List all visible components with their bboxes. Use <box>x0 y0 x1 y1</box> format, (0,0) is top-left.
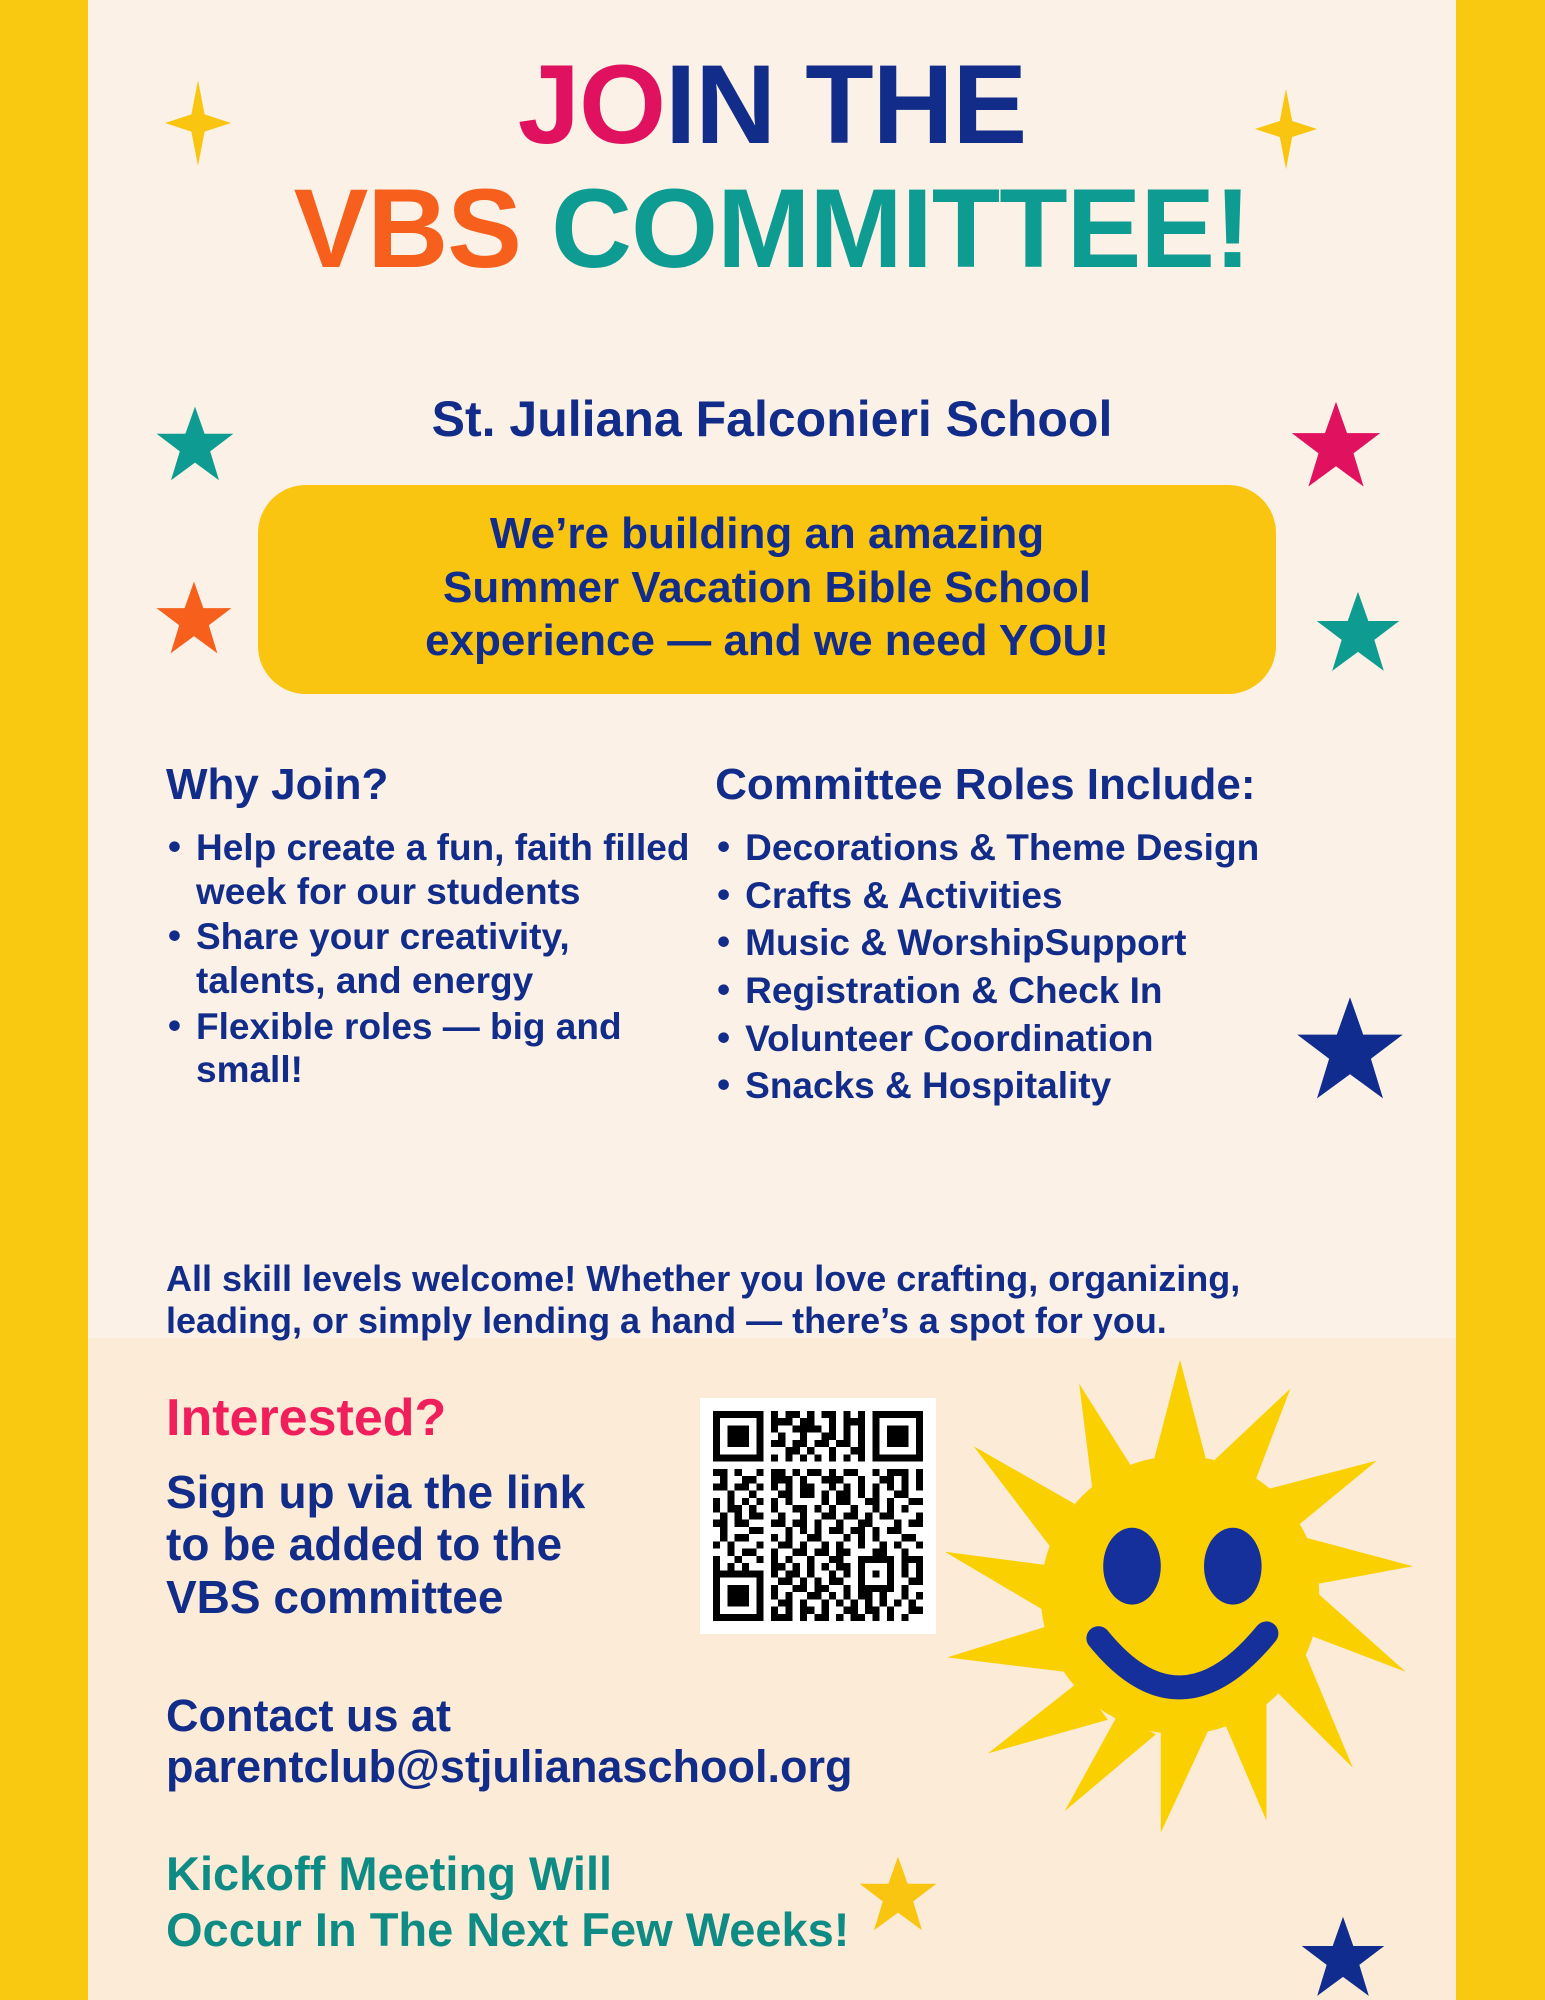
contact-block: Contact us at parentclub@stjulianaschool… <box>166 1690 966 1793</box>
title-line-1: JOIN THE <box>88 46 1456 164</box>
page-title: JOIN THE VBS COMMITTEE! <box>88 46 1456 287</box>
qr-code[interactable] <box>700 1398 936 1634</box>
info-columns: Why Join? Help create a fun, faith fille… <box>88 760 1456 1112</box>
kickoff-line-2: Occur In The Next Few Weeks! <box>166 1902 1066 1958</box>
title-in-the: IN THE <box>665 42 1026 167</box>
star-icon-teal-right <box>1315 590 1401 676</box>
committee-roles-list: Decorations & Theme Design Crafts & Acti… <box>715 826 1386 1108</box>
school-name: St. Juliana Falconieri School <box>88 390 1456 448</box>
title-line-2: VBS COMMITTEE! <box>88 170 1456 288</box>
list-item: Snacks & Hospitality <box>715 1064 1386 1108</box>
star-icon-navy-bottom <box>1300 1915 1386 2000</box>
callout-line-3: experience — and we need YOU! <box>288 614 1246 668</box>
list-item: Help create a fun, faith filled week for… <box>166 826 697 913</box>
signup-instructions: Sign up via the link to be added to the … <box>166 1466 586 1623</box>
sun-left-eye <box>1103 1528 1161 1605</box>
kickoff-notice: Kickoff Meeting Will Occur In The Next F… <box>166 1846 1066 1959</box>
list-item: Registration & Check In <box>715 969 1386 1013</box>
title-vbs: VBS <box>294 166 521 291</box>
list-item: Music & WorshipSupport <box>715 921 1386 965</box>
sun-right-eye <box>1204 1528 1262 1605</box>
title-jo: JO <box>518 42 665 167</box>
why-join-heading: Why Join? <box>166 760 697 810</box>
list-item: Volunteer Coordination <box>715 1017 1386 1061</box>
list-item: Share your creativity, talents, and ener… <box>166 915 697 1002</box>
kickoff-line-1: Kickoff Meeting Will <box>166 1846 1066 1902</box>
smiling-sun-icon <box>940 1355 1420 1835</box>
title-committee: COMMITTEE! <box>521 166 1250 291</box>
committee-roles-heading: Committee Roles Include: <box>715 760 1386 810</box>
interested-heading: Interested? <box>166 1388 446 1448</box>
callout-line-1: We’re building an amazing <box>288 507 1246 561</box>
why-join-list: Help create a fun, faith filled week for… <box>166 826 697 1092</box>
list-item: Decorations & Theme Design <box>715 826 1386 870</box>
callout-line-2: Summer Vacation Bible School <box>288 561 1246 615</box>
contact-email[interactable]: parentclub@stjulianaschool.org <box>166 1741 966 1792</box>
committee-roles-column: Committee Roles Include: Decorations & T… <box>697 760 1386 1112</box>
why-join-column: Why Join? Help create a fun, faith fille… <box>166 760 697 1112</box>
star-icon-orange-left <box>155 580 233 658</box>
all-skill-levels-text: All skill levels welcome! Whether you lo… <box>88 1258 1456 1343</box>
list-item: Crafts & Activities <box>715 874 1386 918</box>
callout-box: We’re building an amazing Summer Vacatio… <box>258 485 1276 694</box>
contact-label: Contact us at <box>166 1690 966 1741</box>
vbs-committee-flyer: JOIN THE VBS COMMITTEE! St. Juliana Falc… <box>0 0 1545 2000</box>
list-item: Flexible roles — big and small! <box>166 1005 697 1092</box>
qr-code-icon <box>713 1411 923 1621</box>
